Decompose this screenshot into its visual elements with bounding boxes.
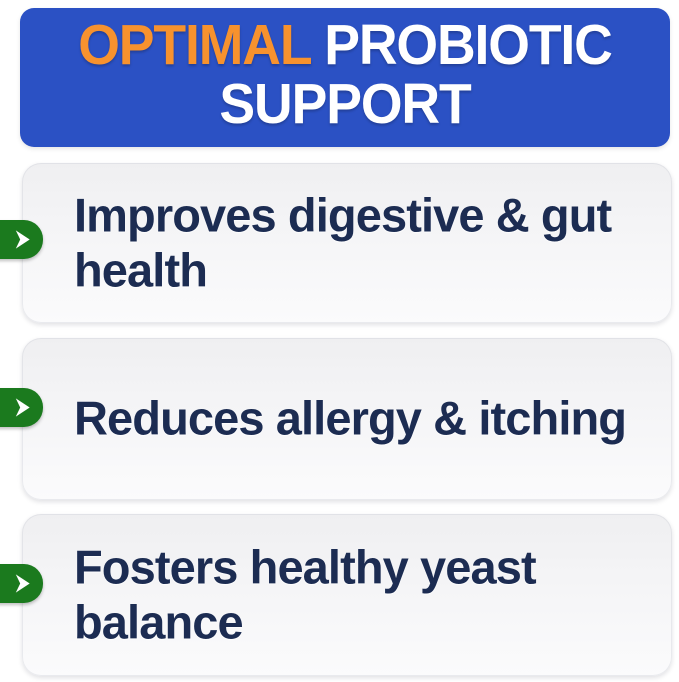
benefit-text-1: Improves digestive & gut health bbox=[74, 188, 646, 297]
banner-title: OPTIMAL PROBIOTIC SUPPORT bbox=[49, 16, 641, 132]
probiotic-benefits-infographic: OPTIMAL PROBIOTIC SUPPORT Improves diges… bbox=[0, 0, 679, 682]
benefit-card-3: Fosters healthy yeast balance bbox=[22, 514, 672, 676]
benefit-card-1: Improves digestive & gut health bbox=[22, 163, 672, 323]
chevron-right-icon bbox=[11, 396, 34, 419]
banner-title-accent: OPTIMAL bbox=[78, 13, 310, 77]
arrow-badge-2 bbox=[0, 388, 43, 427]
chevron-right-icon bbox=[11, 572, 34, 595]
chevron-right-icon bbox=[11, 228, 34, 251]
benefit-text-3: Fosters healthy yeast balance bbox=[74, 540, 646, 649]
benefit-text-2: Reduces allergy & itching bbox=[74, 392, 646, 447]
header-banner: OPTIMAL PROBIOTIC SUPPORT bbox=[20, 8, 670, 147]
benefit-card-2: Reduces allergy & itching bbox=[22, 338, 672, 500]
arrow-badge-3 bbox=[0, 564, 43, 603]
arrow-badge-1 bbox=[0, 220, 43, 259]
